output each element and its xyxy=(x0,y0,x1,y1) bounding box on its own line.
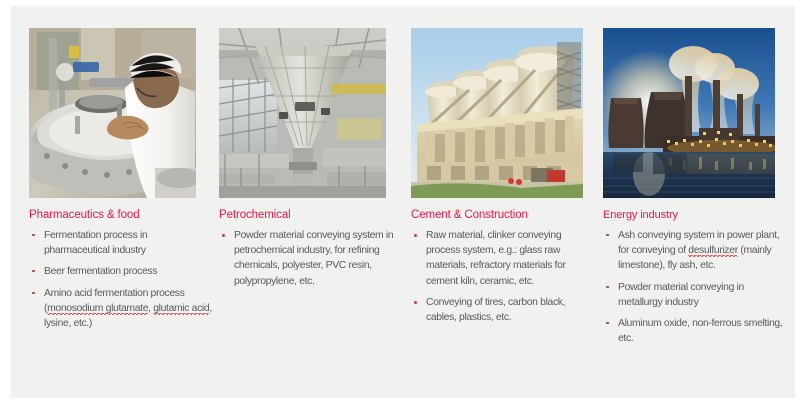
list-item: Aluminum oxide, non-ferrous smelting, et… xyxy=(603,316,787,346)
list-item: Powder material conveying in metallurgy … xyxy=(603,280,787,310)
list-item-text: Fermentation process in pharmaceutical i… xyxy=(44,230,147,256)
photo-petrochemical xyxy=(219,28,386,198)
list-item-text: Conveying of tires, carbon black, cables… xyxy=(426,297,565,323)
bullet-list-cement-construction: Raw material, clinker conveying process … xyxy=(411,228,595,325)
column-heading-petrochemical: Petrochemical xyxy=(219,209,403,221)
photo-cement-construction-image xyxy=(411,28,583,198)
bullet-icon xyxy=(606,234,609,236)
list-item: Beer fermentation process xyxy=(29,264,213,279)
content-panel: Pharmaceutics & food Fermentation proces… xyxy=(11,6,795,398)
industry-column-energy: Energy industry Ash conveying system in … xyxy=(603,28,787,352)
industry-columns: Pharmaceutics & food Fermentation proces… xyxy=(11,6,795,398)
industry-column-petrochemical: Petrochemical Powder material conveying … xyxy=(219,28,403,295)
photo-petrochemical-image xyxy=(219,28,386,198)
column-heading-pharmaceutics-food: Pharmaceutics & food xyxy=(29,209,213,221)
spellcheck-underline: glutamic acid xyxy=(153,303,209,315)
list-item: Conveying of tires, carbon black, cables… xyxy=(411,295,595,325)
list-item: Ash conveying system in power plant, for… xyxy=(603,228,787,274)
bullet-icon xyxy=(222,234,225,237)
list-item-text: Ash conveying system in power plant, for… xyxy=(618,230,779,271)
photo-energy-industry xyxy=(603,28,775,198)
spellcheck-underline: desulfurizer xyxy=(688,245,738,257)
list-item-text: Powder material conveying system in petr… xyxy=(234,230,393,287)
photo-energy-industry-image xyxy=(603,28,775,198)
list-item-text: Powder material conveying in metallurgy … xyxy=(618,282,744,308)
bullet-list-energy: Ash conveying system in power plant, for… xyxy=(603,228,787,346)
bullet-list-petrochemical: Powder material conveying system in petr… xyxy=(219,228,403,289)
list-item: Raw material, clinker conveying process … xyxy=(411,228,595,289)
industry-column-pharmaceutics-food: Pharmaceutics & food Fermentation proces… xyxy=(29,28,213,337)
industry-column-cement-construction: Cement & Construction Raw material, clin… xyxy=(411,28,595,331)
bullet-icon xyxy=(606,286,609,288)
bullet-icon xyxy=(32,292,35,294)
bullet-list-pharmaceutics-food: Fermentation process in pharmaceutical i… xyxy=(29,228,213,331)
list-item-text: Amino acid fermentation process (monosod… xyxy=(44,288,212,329)
list-item-text: Beer fermentation process xyxy=(44,266,157,277)
photo-pharmaceutics-food-image xyxy=(29,28,196,198)
list-item: Amino acid fermentation process (monosod… xyxy=(29,286,213,332)
bullet-icon xyxy=(414,234,417,237)
bullet-icon xyxy=(32,234,35,236)
photo-cement-construction xyxy=(411,28,583,198)
list-item: Fermentation process in pharmaceutical i… xyxy=(29,228,213,258)
spellcheck-underline: monosodium glutamate xyxy=(47,303,148,315)
list-item-text: Raw material, clinker conveying process … xyxy=(426,230,566,287)
bullet-icon xyxy=(606,322,609,324)
bullet-icon xyxy=(32,270,35,272)
bullet-icon xyxy=(414,301,417,304)
column-heading-cement-construction: Cement & Construction xyxy=(411,209,595,221)
list-item-text: Aluminum oxide, non-ferrous smelting, et… xyxy=(618,318,782,344)
column-heading-energy: Energy industry xyxy=(603,209,787,221)
list-item: Powder material conveying system in petr… xyxy=(219,228,403,289)
photo-pharmaceutics-food xyxy=(29,28,196,198)
